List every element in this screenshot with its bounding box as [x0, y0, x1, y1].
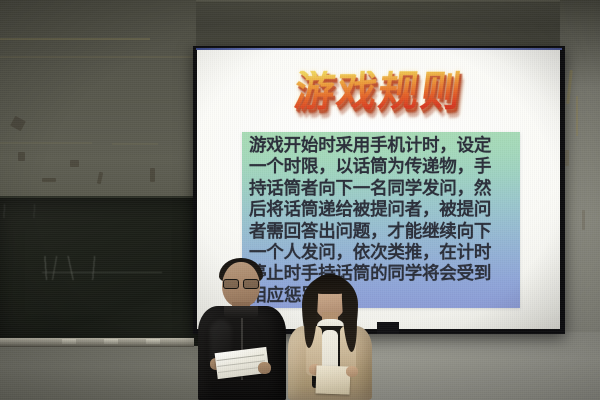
glasses-icon	[223, 279, 259, 287]
slide-body-line: 一个时限，以话筒为传递物，手	[249, 157, 514, 178]
blackboard	[0, 196, 202, 346]
screen-top-edge	[196, 48, 562, 50]
hand-right	[346, 366, 358, 377]
slide-body-line: 持话筒者向下一名同学发问，然	[249, 179, 514, 200]
hand-right	[258, 362, 271, 374]
chalk-tray	[0, 338, 194, 347]
screen-corner	[377, 322, 399, 334]
chalk-writing	[42, 256, 162, 280]
slide-body-line: 一个人发问，依次类推，在计时	[249, 243, 514, 264]
person-man-left	[196, 262, 288, 400]
slide-body-line: 者需回答出问题，才能继续向下	[249, 222, 514, 243]
photo-scene: 游戏规则 游戏规则 游戏开始时采用手机计时，设定 一个时限，以话筒为传递物，手 …	[0, 0, 600, 400]
slide-title: 游戏规则	[197, 71, 560, 113]
slide-body-line: 游戏开始时采用手机计时，设定	[249, 136, 514, 157]
slide-body-line: 后将话筒递给被提问者，被提问	[249, 200, 514, 221]
person-woman-right	[284, 274, 376, 400]
